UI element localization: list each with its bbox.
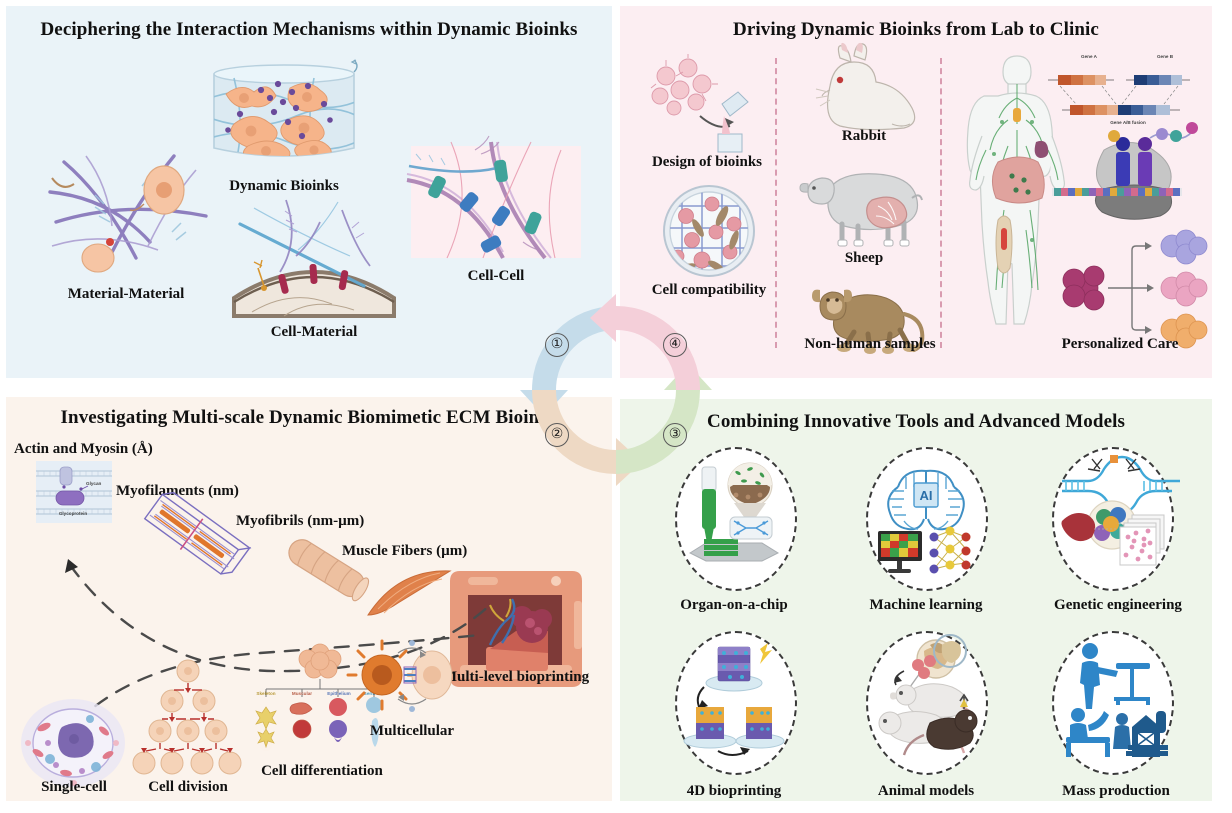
cell-cell-illustration: [411, 146, 581, 258]
cell-division-illustration: [130, 659, 246, 777]
cycle-arrows-svg: [516, 290, 716, 490]
label-non-human-samples: Non-human samples: [780, 336, 960, 353]
diff-label-muscular: Muscular: [286, 691, 318, 696]
crispr-dna-icon: [1058, 455, 1170, 577]
cell-compatibility-illustration: [660, 182, 758, 280]
cycle-step-1-number: ①: [545, 333, 569, 357]
cycle-step-4-number: ④: [663, 333, 687, 357]
ai-brain-icon: AI: [876, 457, 976, 577]
cell-variants-illustration: [1060, 234, 1210, 342]
cycle-step-2-number: ②: [545, 423, 569, 447]
label-cell-division: Cell division: [122, 779, 254, 796]
label-personalized-care: Personalized Care: [1030, 336, 1210, 353]
label-material-material: Material-Material: [26, 286, 226, 303]
diff-label-skeleton: Skeleton: [250, 691, 282, 696]
mouse-icon: [874, 639, 980, 759]
glycan-label: Glycan: [86, 481, 116, 486]
label-genetic-engineering: Genetic engineering: [1028, 597, 1208, 614]
label-dynamic-bioinks: Dynamic Bioinks: [204, 178, 364, 195]
label-organ-on-a-chip: Organ-on-a-chip: [654, 597, 814, 614]
sheep-illustration: [800, 162, 928, 248]
label-single-cell: Single-cell: [14, 779, 134, 796]
cell-material-illustration: [234, 198, 394, 316]
label-rabbit: Rabbit: [806, 128, 922, 145]
ribosome-translation-illustration: [1050, 134, 1200, 230]
label-cell-differentiation: Cell differentiation: [222, 763, 422, 780]
gene-fusion-diagram: [1044, 64, 1194, 128]
label-animal-models: Animal models: [852, 783, 1000, 800]
dynamic-bioinks-illustration: [204, 58, 364, 176]
gene-b-label: Gene B: [1140, 54, 1190, 59]
panel-title-deciphering: Deciphering the Interaction Mechanisms w…: [6, 19, 612, 41]
gene-fusion-label: Gene A/B fusion: [1098, 120, 1158, 125]
shape-change-icon: [682, 639, 786, 761]
cycle-step-3-number: ③: [663, 423, 687, 447]
label-myofilaments: Myofilaments (nm): [116, 483, 296, 500]
ai-badge-text: AI: [920, 488, 933, 503]
factory-icon: [1064, 641, 1168, 759]
gene-a-label: Gene A: [1064, 54, 1114, 59]
multicellular-illustration: [346, 637, 456, 715]
label-actin-and-myosin: Actin and Myosin (Å): [14, 441, 234, 458]
divider-dashed-right: [940, 58, 942, 348]
design-of-bioinks-illustration: [650, 58, 768, 152]
rabbit-illustration: [806, 46, 922, 130]
label-cell-material: Cell-Material: [234, 324, 394, 341]
divider-dashed-left: [775, 58, 777, 348]
label-4d-bioprinting: 4D bioprinting: [664, 783, 804, 800]
label-cell-cell: Cell-Cell: [411, 268, 581, 285]
material-material-illustration: [46, 146, 216, 266]
panel-title-lab-to-clinic: Driving Dynamic Bioinks from Lab to Clin…: [620, 19, 1212, 41]
label-sheep: Sheep: [800, 250, 928, 267]
label-design-of-bioinks: Design of bioinks: [632, 154, 782, 171]
single-cell-illustration: [18, 697, 128, 789]
label-multicellular: Multicellular: [342, 723, 482, 740]
label-mass-production: Mass production: [1034, 783, 1198, 800]
label-machine-learning: Machine learning: [846, 597, 1006, 614]
cycle-arrows-hub: ① ② ③ ④: [516, 290, 716, 490]
